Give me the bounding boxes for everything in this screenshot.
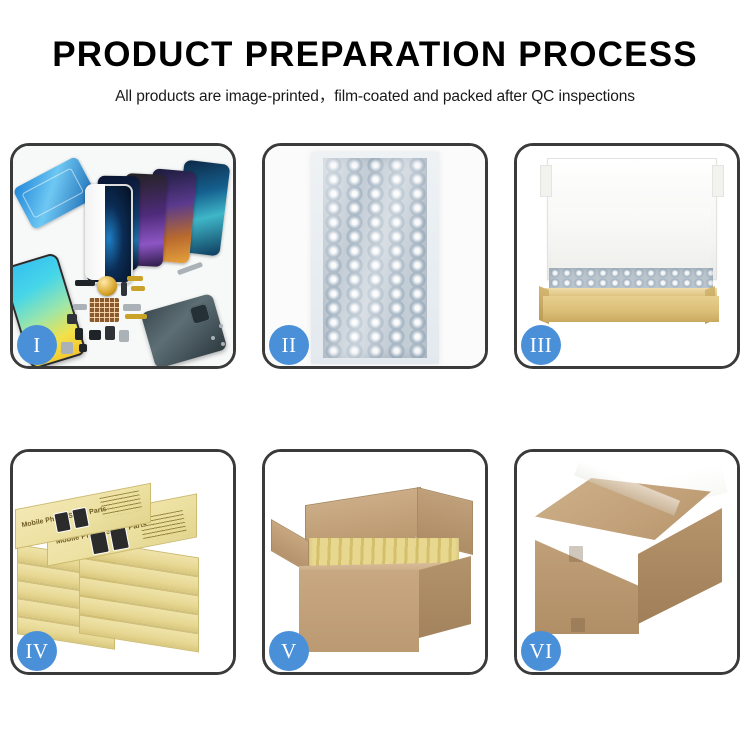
bubble-wrap-sheen <box>323 158 427 358</box>
small-part-image <box>105 326 115 340</box>
process-step-panel-4: Mobile Phone Spare Parts Mobile Phone Sp… <box>10 449 236 675</box>
carton-front-panel-image <box>299 570 419 652</box>
page-subtitle: All products are image-printed，film-coat… <box>0 75 750 106</box>
process-step-grid: I II III <box>10 143 740 675</box>
small-part-image <box>61 342 73 354</box>
small-part-image <box>131 286 145 291</box>
process-step-panel-5: V <box>262 449 488 675</box>
small-part-image <box>73 304 87 310</box>
small-part-image <box>127 276 143 281</box>
gold-coil-part-image <box>97 276 117 296</box>
screw-image <box>221 342 225 346</box>
small-part-image <box>89 330 101 340</box>
step-badge-2: II <box>269 325 309 365</box>
process-step-panel-2: II <box>262 143 488 369</box>
foam-sheet-image <box>551 208 711 270</box>
step-badge-6: VI <box>521 631 561 671</box>
process-step-panel-1: I <box>10 143 236 369</box>
small-part-image <box>75 328 83 340</box>
step-badge-3: III <box>521 325 561 365</box>
small-part-image <box>79 344 87 352</box>
small-part-image <box>125 314 147 319</box>
small-part-image <box>67 314 77 324</box>
carton-handle-slot-image <box>571 618 585 632</box>
step-badge-5: V <box>269 631 309 671</box>
chip-grid-part-image <box>89 298 119 322</box>
small-part-image <box>75 280 95 286</box>
carton-handle-slot-image <box>569 546 583 562</box>
small-part-image <box>123 304 141 311</box>
process-step-panel-6: VI <box>514 449 740 675</box>
small-part-image <box>119 330 129 342</box>
carton-side-panel-image <box>419 556 471 638</box>
screw-image <box>219 324 223 328</box>
step-badge-1: I <box>17 325 57 365</box>
box-front-panel-image <box>543 296 719 322</box>
process-step-panel-3: III <box>514 143 740 369</box>
small-part-image <box>121 282 127 296</box>
step-badge-4: IV <box>17 631 57 671</box>
page-title: PRODUCT PREPARATION PROCESS <box>0 0 750 75</box>
screw-image <box>211 336 215 340</box>
header: PRODUCT PREPARATION PROCESS All products… <box>0 0 750 106</box>
phone-front-glass-image <box>85 184 133 284</box>
